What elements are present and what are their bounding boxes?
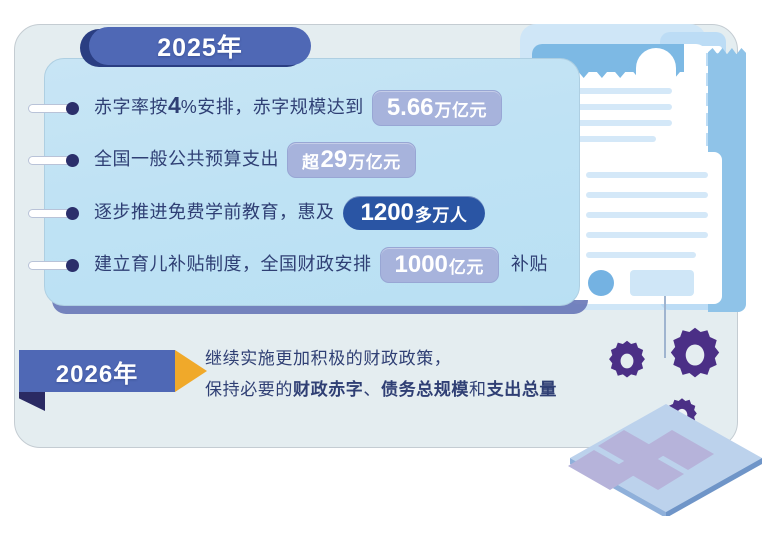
chip-number: 5.66 [387,94,434,122]
arrow-right-icon [175,350,207,392]
year-2026-label: 2026年 [56,354,138,389]
item-text-after: 补贴 [511,254,548,274]
list-item: 建立育儿补贴制度，全国财政安排1000亿元补贴 [28,245,548,285]
list-item-text: 全国一般公共预算支出超29万亿元 [94,142,424,178]
chip-unit: 亿元 [449,253,484,278]
chip-number: 29 [321,146,348,174]
isometric-platform-icon [566,400,768,516]
footer-text: 继续实施更加积极的财政政策， 保持必要的财政赤字、债务总规模和支出总量 [205,343,625,405]
list-item: 逐步推进免费学前教育，惠及1200多万人 [28,193,493,233]
year-2025-label: 2025年 [157,28,243,64]
list-item: 全国一般公共预算支出超29万亿元 [28,140,424,180]
list-item-text: 建立育儿补贴制度，全国财政安排1000亿元补贴 [94,247,548,283]
item-text-before: 逐步推进免费学前教育，惠及 [94,202,335,222]
document-seal-icon-2 [588,270,614,296]
footer-line-1: 继续实施更加积极的财政政策， [205,343,625,374]
document-strip-teeth [708,48,746,62]
list-item: 赤字率按4%安排，赤字规模达到5.66万亿元 [28,88,510,128]
chip-prefix: 超 [302,148,320,173]
arrow-bullet-icon [28,153,84,167]
item-text-before: 赤字率按 [94,97,168,117]
year-2026-badge: 2026年 [19,350,175,392]
chip-unit: 多万人 [415,201,468,226]
footer-line-2: 保持必要的财政赤字、债务总规模和支出总量 [205,374,625,405]
item-text-mid: %安排，赤字规模达到 [181,97,364,117]
list-item-text: 逐步推进免费学前教育，惠及1200多万人 [94,196,493,230]
footer-emphasis-3: 支出总量 [487,380,557,399]
footer-sep-1: 、 [363,380,381,399]
chip-unit: 万亿元 [348,148,401,173]
arrow-bullet-icon [28,258,84,272]
chip-unit: 万亿元 [435,96,488,121]
item-text-before: 建立育儿补贴制度，全国财政安排 [94,254,372,274]
footer-emphasis-2: 债务总规模 [381,380,469,399]
item-inline-number: 4 [168,92,181,118]
footer-sep-2: 和 [469,380,487,399]
gear-icon [664,324,726,386]
list-item-text: 赤字率按4%安排，赤字规模达到5.66万亿元 [94,90,510,126]
chip-number: 1000 [395,251,448,279]
year-2025-badge: 2025年 [89,27,311,65]
value-chip: 1200多万人 [343,196,486,230]
chip-number: 1200 [361,199,414,227]
item-text-before: 全国一般公共预算支出 [94,149,279,169]
value-chip: 5.66万亿元 [372,90,502,126]
value-chip: 1000亿元 [380,247,499,283]
footer-emphasis-1: 财政赤字 [293,380,363,399]
document-block [630,270,694,296]
value-chip: 超29万亿元 [287,142,416,178]
arrow-bullet-icon [28,206,84,220]
arrow-bullet-icon [28,101,84,115]
footer-line2-prefix: 保持必要的 [205,380,293,399]
infographic-stage: 2025年 赤字率按4%安排，赤字规模达到5.66万亿元 全国一般公共预算支出超… [0,0,768,533]
